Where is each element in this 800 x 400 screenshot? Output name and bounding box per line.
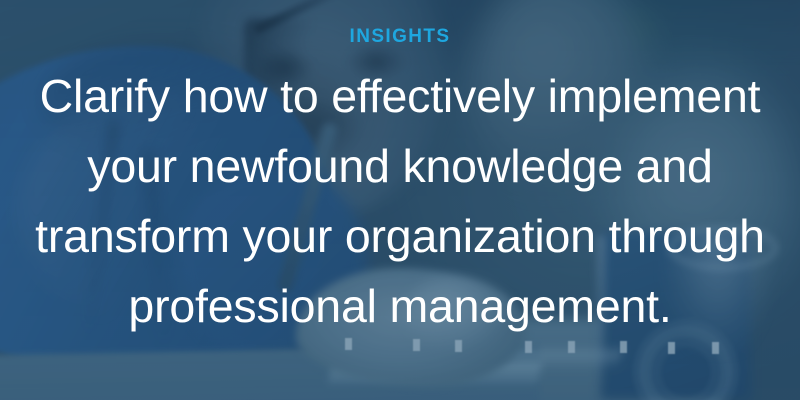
headline: Clarify how to effectively implement you…: [0, 61, 800, 341]
eyebrow-label: INSIGHTS: [350, 27, 451, 46]
insights-banner: INSIGHTS Clarify how to effectively impl…: [0, 0, 800, 400]
banner-content: INSIGHTS Clarify how to effectively impl…: [0, 0, 800, 400]
headline-line: your newfound knowledge and: [6, 131, 794, 201]
headline-line: transform your organization through: [6, 201, 794, 271]
headline-line: professional management.: [6, 271, 794, 341]
headline-line: Clarify how to effectively implement: [6, 61, 794, 131]
